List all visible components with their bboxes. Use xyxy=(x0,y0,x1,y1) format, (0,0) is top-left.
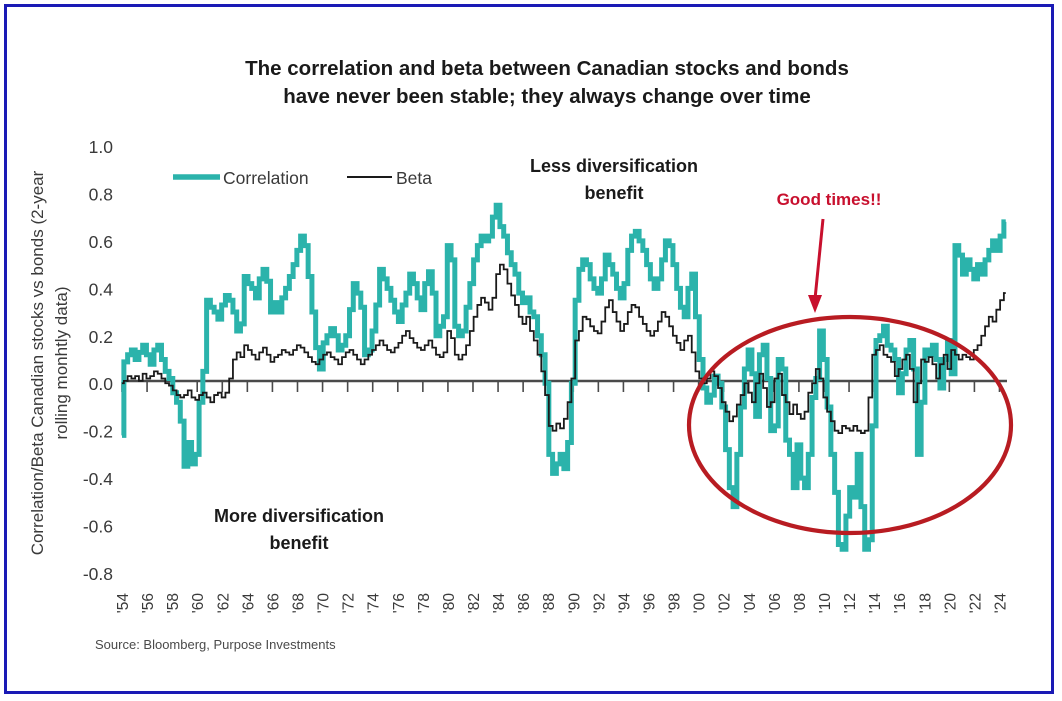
x-tick-label: '86 xyxy=(516,593,533,613)
x-tick-label: '22 xyxy=(967,593,984,613)
x-tick-label: '68 xyxy=(290,593,307,613)
x-tick-label: '88 xyxy=(541,593,558,613)
good-times-annotation: Good times!! xyxy=(777,190,882,209)
chart-title-line1: The correlation and beta between Canadia… xyxy=(245,57,849,80)
x-tick-label: '20 xyxy=(942,593,959,614)
x-tick-label: '12 xyxy=(842,593,859,613)
x-tick-label: '62 xyxy=(215,593,232,613)
x-tick-label: '84 xyxy=(491,593,508,614)
y-tick-label: -0.2 xyxy=(83,422,113,442)
x-tick-label: '78 xyxy=(416,593,433,613)
less-diversification-line2: benefit xyxy=(584,183,643,203)
y-tick-label: 0.4 xyxy=(89,279,114,299)
x-tick-label: '90 xyxy=(566,593,583,614)
x-tick-label: '06 xyxy=(767,593,784,613)
x-tick-label: '14 xyxy=(867,593,884,614)
y-tick-label: 0.8 xyxy=(89,184,113,204)
x-tick-label: '16 xyxy=(892,593,909,613)
source-note: Source: Bloomberg, Purpose Investments xyxy=(95,637,336,652)
x-tick-label: '72 xyxy=(341,593,358,613)
x-tick-label: '64 xyxy=(240,593,257,614)
y-tick-label: -0.8 xyxy=(83,564,113,584)
y-tick-label: 0.0 xyxy=(89,374,114,394)
x-tick-label: '70 xyxy=(316,593,333,614)
less-diversification-line1: Less diversification xyxy=(530,156,698,176)
y-tick-label: 0.2 xyxy=(89,327,113,347)
x-tick-label: '04 xyxy=(742,593,759,614)
y-tick-label: 1.0 xyxy=(89,137,114,157)
x-tick-label: '00 xyxy=(692,593,709,614)
x-tick-label: '02 xyxy=(717,593,734,613)
legend-label-beta: Beta xyxy=(396,168,432,188)
x-tick-label: '94 xyxy=(616,593,633,614)
y-tick-label: -0.4 xyxy=(83,469,113,489)
chart-canvas: The correlation and beta between Canadia… xyxy=(7,7,1051,691)
y-tick-label: 0.6 xyxy=(89,232,113,252)
chart-frame: The correlation and beta between Canadia… xyxy=(4,4,1054,694)
x-tick-label: '82 xyxy=(466,593,483,613)
x-tick-label: '54 xyxy=(115,593,132,614)
x-tick-label: '92 xyxy=(591,593,608,613)
chart-title-line2: have never been stable; they always chan… xyxy=(283,85,811,108)
x-tick-label: '74 xyxy=(366,593,383,614)
x-tick-label: '98 xyxy=(667,593,684,613)
y-tick-label: -0.6 xyxy=(83,517,113,537)
x-tick-label: '10 xyxy=(817,593,834,614)
x-tick-label: '18 xyxy=(917,593,934,613)
x-tick-label: '80 xyxy=(441,593,458,614)
more-diversification-line1: More diversification xyxy=(214,506,384,526)
x-tick-label: '76 xyxy=(391,593,408,613)
y-axis-label-line2: rolling monhtly data) xyxy=(52,286,71,439)
more-diversification-line2: benefit xyxy=(269,533,328,553)
x-tick-label: '60 xyxy=(190,593,207,614)
x-tick-label: '96 xyxy=(641,593,658,613)
x-tick-label: '08 xyxy=(792,593,809,613)
x-tick-label: '56 xyxy=(140,593,157,613)
x-tick-label: '58 xyxy=(165,593,182,613)
x-tick-label: '66 xyxy=(265,593,282,613)
legend-label-correlation: Correlation xyxy=(223,168,309,188)
x-tick-label: '24 xyxy=(992,593,1009,614)
y-axis-label-line1: Correlation/Beta Canadian stocks vs bond… xyxy=(28,170,47,555)
